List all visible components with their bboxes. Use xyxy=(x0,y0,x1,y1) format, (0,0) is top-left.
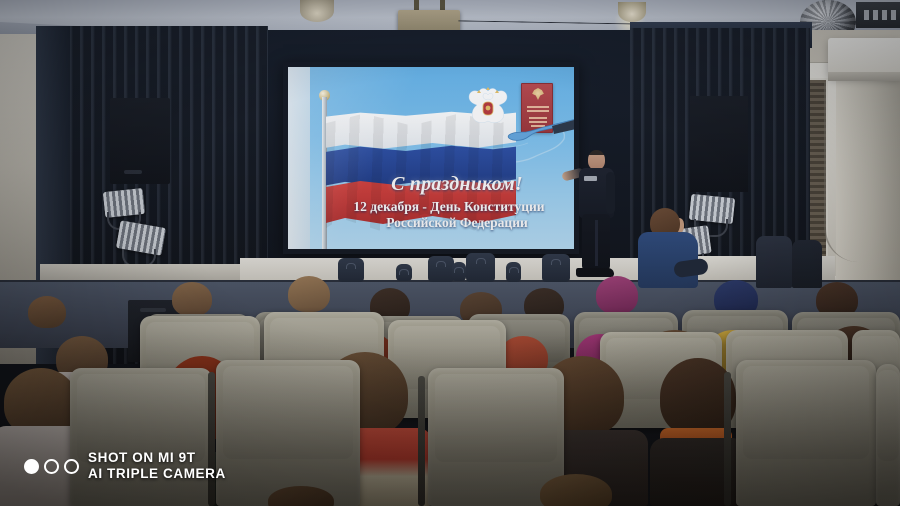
ceiling-lamp-right xyxy=(618,2,646,22)
watermark-text: SHOT ON MI 9T AI TRIPLE CAMERA xyxy=(88,450,226,482)
presenter-arm-down xyxy=(606,172,615,214)
seat-divider xyxy=(724,372,731,506)
photo-scene: С праздником! 12 декабря - День Конститу… xyxy=(0,0,900,506)
air-conditioner-vent xyxy=(828,72,900,81)
projection-screen-frame: С праздником! 12 декабря - День Конститу… xyxy=(283,62,579,254)
backpack xyxy=(396,264,412,281)
seat-divider xyxy=(208,372,215,506)
audience-head xyxy=(596,276,638,314)
audience-shoulders xyxy=(650,438,746,506)
camera-watermark: SHOT ON MI 9T AI TRIPLE CAMERA xyxy=(24,450,226,482)
watermark-line-1: SHOT ON MI 9T xyxy=(88,450,226,466)
presenter-legs xyxy=(582,214,610,270)
ceiling-lamp-left xyxy=(300,0,334,22)
pillar-edge xyxy=(824,82,858,262)
seat-divider xyxy=(418,376,425,506)
background-person-2 xyxy=(792,240,822,288)
watermark-dot-1 xyxy=(24,459,39,474)
seated-person-blue xyxy=(638,208,700,288)
backpack xyxy=(428,256,454,282)
slide-subline-2: Российской Федерации xyxy=(340,215,574,231)
projection-screen: С праздником! 12 декабря - День Конститу… xyxy=(288,67,574,249)
background-person-1 xyxy=(756,236,792,288)
audience-head xyxy=(172,282,212,316)
watermark-dots xyxy=(24,459,79,474)
theater-seat[interactable] xyxy=(876,364,900,506)
presenter-badge xyxy=(584,176,597,181)
standing-presenter xyxy=(576,150,616,278)
constitution-crest-icon xyxy=(531,88,545,100)
theater-seat[interactable] xyxy=(70,368,212,506)
audience-head xyxy=(288,276,330,312)
presenter-shoes xyxy=(576,268,614,277)
theater-seat[interactable] xyxy=(736,360,876,506)
screen-left-band xyxy=(288,67,310,249)
backpack xyxy=(338,258,364,282)
wall-speaker-left xyxy=(110,98,170,184)
backpack xyxy=(452,262,466,281)
audience-head xyxy=(540,474,612,506)
backpack xyxy=(466,253,495,282)
watermark-dot-2 xyxy=(44,459,59,474)
wall-speaker-right xyxy=(690,96,748,192)
audience-head xyxy=(28,296,66,328)
slide-subline-1: 12 декабря - День Конституции xyxy=(324,199,574,214)
backpack xyxy=(506,262,521,282)
watermark-line-2: AI TRIPLE CAMERA xyxy=(88,466,226,482)
theater-seat[interactable] xyxy=(216,360,360,506)
presenter-head xyxy=(588,150,605,170)
ceiling-speaker-box xyxy=(856,2,900,28)
pointing-hand-icon xyxy=(504,119,574,149)
backpack xyxy=(542,254,570,282)
slide-headline: С праздником! xyxy=(344,173,570,196)
watermark-dot-3 xyxy=(64,459,79,474)
